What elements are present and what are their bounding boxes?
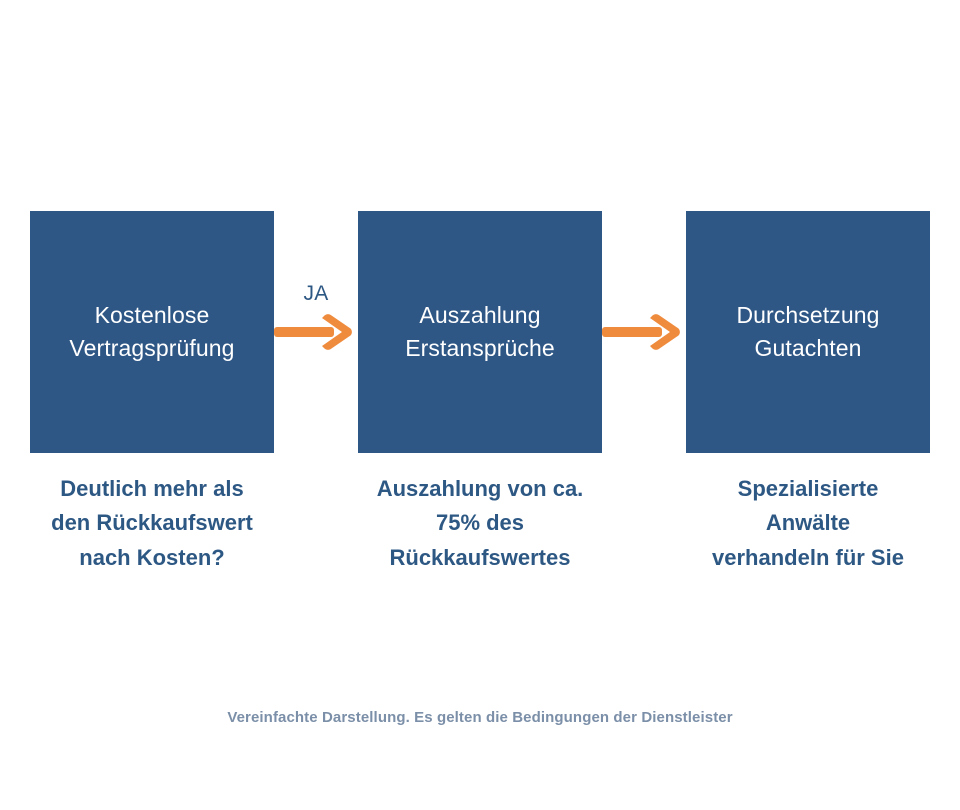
flow-arrow-1 bbox=[274, 312, 358, 352]
process-step-2-box-label: Auszahlung Erstansprüche bbox=[405, 299, 555, 364]
footer-disclaimer: Vereinfachte Darstellung. Es gelten die … bbox=[0, 707, 960, 728]
process-step-1-box: Kostenlose Vertragsprüfung bbox=[30, 211, 274, 453]
arrow-right-icon bbox=[274, 312, 358, 352]
process-step-3-caption: Spezialisierte Anwälte verhandeln für Si… bbox=[686, 472, 930, 575]
process-step-3-box: Durchsetzung Gutachten bbox=[686, 211, 930, 453]
process-step-1-box-label: Kostenlose Vertragsprüfung bbox=[69, 299, 234, 364]
process-step-2: Auszahlung Erstansprüche bbox=[358, 211, 602, 453]
process-flow-row: Kostenlose Vertragsprüfung JA Auszahlung… bbox=[30, 211, 929, 453]
process-step-1: Kostenlose Vertragsprüfung bbox=[30, 211, 274, 453]
process-step-3: Durchsetzung Gutachten bbox=[686, 211, 930, 453]
process-captions-row: Deutlich mehr als den Rückkaufswert nach… bbox=[30, 472, 929, 582]
arrow-right-icon bbox=[602, 312, 686, 352]
process-step-2-box: Auszahlung Erstansprüche bbox=[358, 211, 602, 453]
process-step-2-caption: Auszahlung von ca. 75% des Rückkaufswert… bbox=[358, 472, 602, 575]
flow-arrow-2 bbox=[602, 312, 686, 352]
process-step-1-caption: Deutlich mehr als den Rückkaufswert nach… bbox=[30, 472, 274, 575]
diagram-canvas: Kostenlose Vertragsprüfung JA Auszahlung… bbox=[0, 0, 960, 810]
flow-edge-label-ja: JA bbox=[274, 283, 358, 304]
process-step-3-box-label: Durchsetzung Gutachten bbox=[736, 299, 879, 364]
